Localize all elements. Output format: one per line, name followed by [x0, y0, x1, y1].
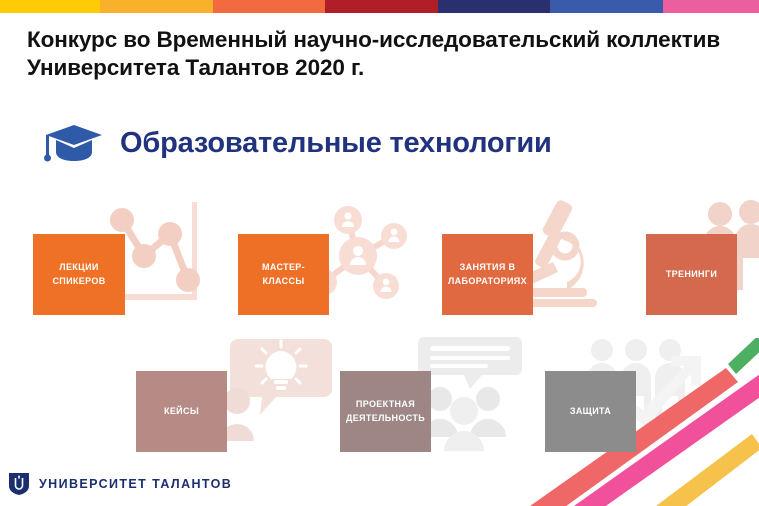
tile-label-line: СПИКЕРОВ: [52, 275, 105, 288]
yellow-stripe: [656, 434, 759, 506]
tile-label: ПРОЕКТНАЯДЕЯТЕЛЬНОСТЬ: [346, 398, 425, 424]
tile-label: КЕЙСЫ: [164, 405, 199, 418]
tile-label-line: ЛАБОРАТОРИЯХ: [448, 275, 527, 288]
tile-label: ЗАНЯТИЯ ВЛАБОРАТОРИЯХ: [448, 261, 527, 287]
section-title: Образовательные технологии: [120, 127, 552, 160]
tile-label-line: ТРЕНИНГИ: [666, 268, 717, 281]
topbar-segment-pink: [663, 0, 759, 13]
shield-u-logo-icon: [8, 472, 30, 496]
tile-label-line: МАСТЕР-: [262, 261, 305, 274]
footer-logo-text: УНИВЕРСИТЕТ ТАЛАНТОВ: [39, 477, 232, 491]
tile-label-line: ЗАЩИТА: [570, 405, 611, 418]
topbar-segment-orange: [213, 0, 325, 13]
footer-logo: УНИВЕРСИТЕТ ТАЛАНТОВ: [8, 472, 232, 496]
tile-label-line: КЕЙСЫ: [164, 405, 199, 418]
topbar-segment-navy: [438, 0, 550, 13]
tile-label: МАСТЕР-КЛАССЫ: [262, 261, 305, 287]
tile-label-line: ЗАНЯТИЯ В: [448, 261, 527, 274]
tile-label-line: КЛАССЫ: [262, 275, 305, 288]
topbar-segment-amber: [100, 0, 213, 13]
tile-label-line: ЛЕКЦИИ: [52, 261, 105, 274]
topbar-segment-crimson: [325, 0, 438, 13]
tile-label: ТРЕНИНГИ: [666, 268, 717, 281]
tile-проектная-деятельность[interactable]: ПРОЕКТНАЯДЕЯТЕЛЬНОСТЬ: [340, 371, 431, 452]
page-title: Конкурс во Временный научно-исследовател…: [27, 26, 742, 82]
tile-кейсы[interactable]: КЕЙСЫ: [136, 371, 227, 452]
tile-занятия в-лабораториях[interactable]: ЗАНЯТИЯ ВЛАБОРАТОРИЯХ: [442, 234, 533, 315]
section-heading: Образовательные технологии: [42, 122, 552, 164]
topbar-segment-royal-blue: [550, 0, 663, 13]
tile-защита[interactable]: ЗАЩИТА: [545, 371, 636, 452]
tile-лекции-спикеров[interactable]: ЛЕКЦИИСПИКЕРОВ: [33, 234, 125, 315]
slide-canvas: Конкурс во Временный научно-исследовател…: [0, 0, 759, 506]
topbar-segment-yellow: [0, 0, 100, 13]
tile-мастер--классы[interactable]: МАСТЕР-КЛАССЫ: [238, 234, 329, 315]
lightbulb-bubble-icon: [224, 333, 336, 445]
top-color-bar: [0, 0, 759, 13]
graduation-cap-icon: [42, 122, 106, 164]
green-stripe: [728, 338, 759, 374]
tile-тренинги[interactable]: ТРЕНИНГИ: [646, 234, 737, 315]
tile-label: ЛЕКЦИИСПИКЕРОВ: [52, 261, 105, 287]
tile-label: ЗАЩИТА: [570, 405, 611, 418]
tile-label-line: ДЕЯТЕЛЬНОСТЬ: [346, 412, 425, 425]
tile-label-line: ПРОЕКТНАЯ: [346, 398, 425, 411]
